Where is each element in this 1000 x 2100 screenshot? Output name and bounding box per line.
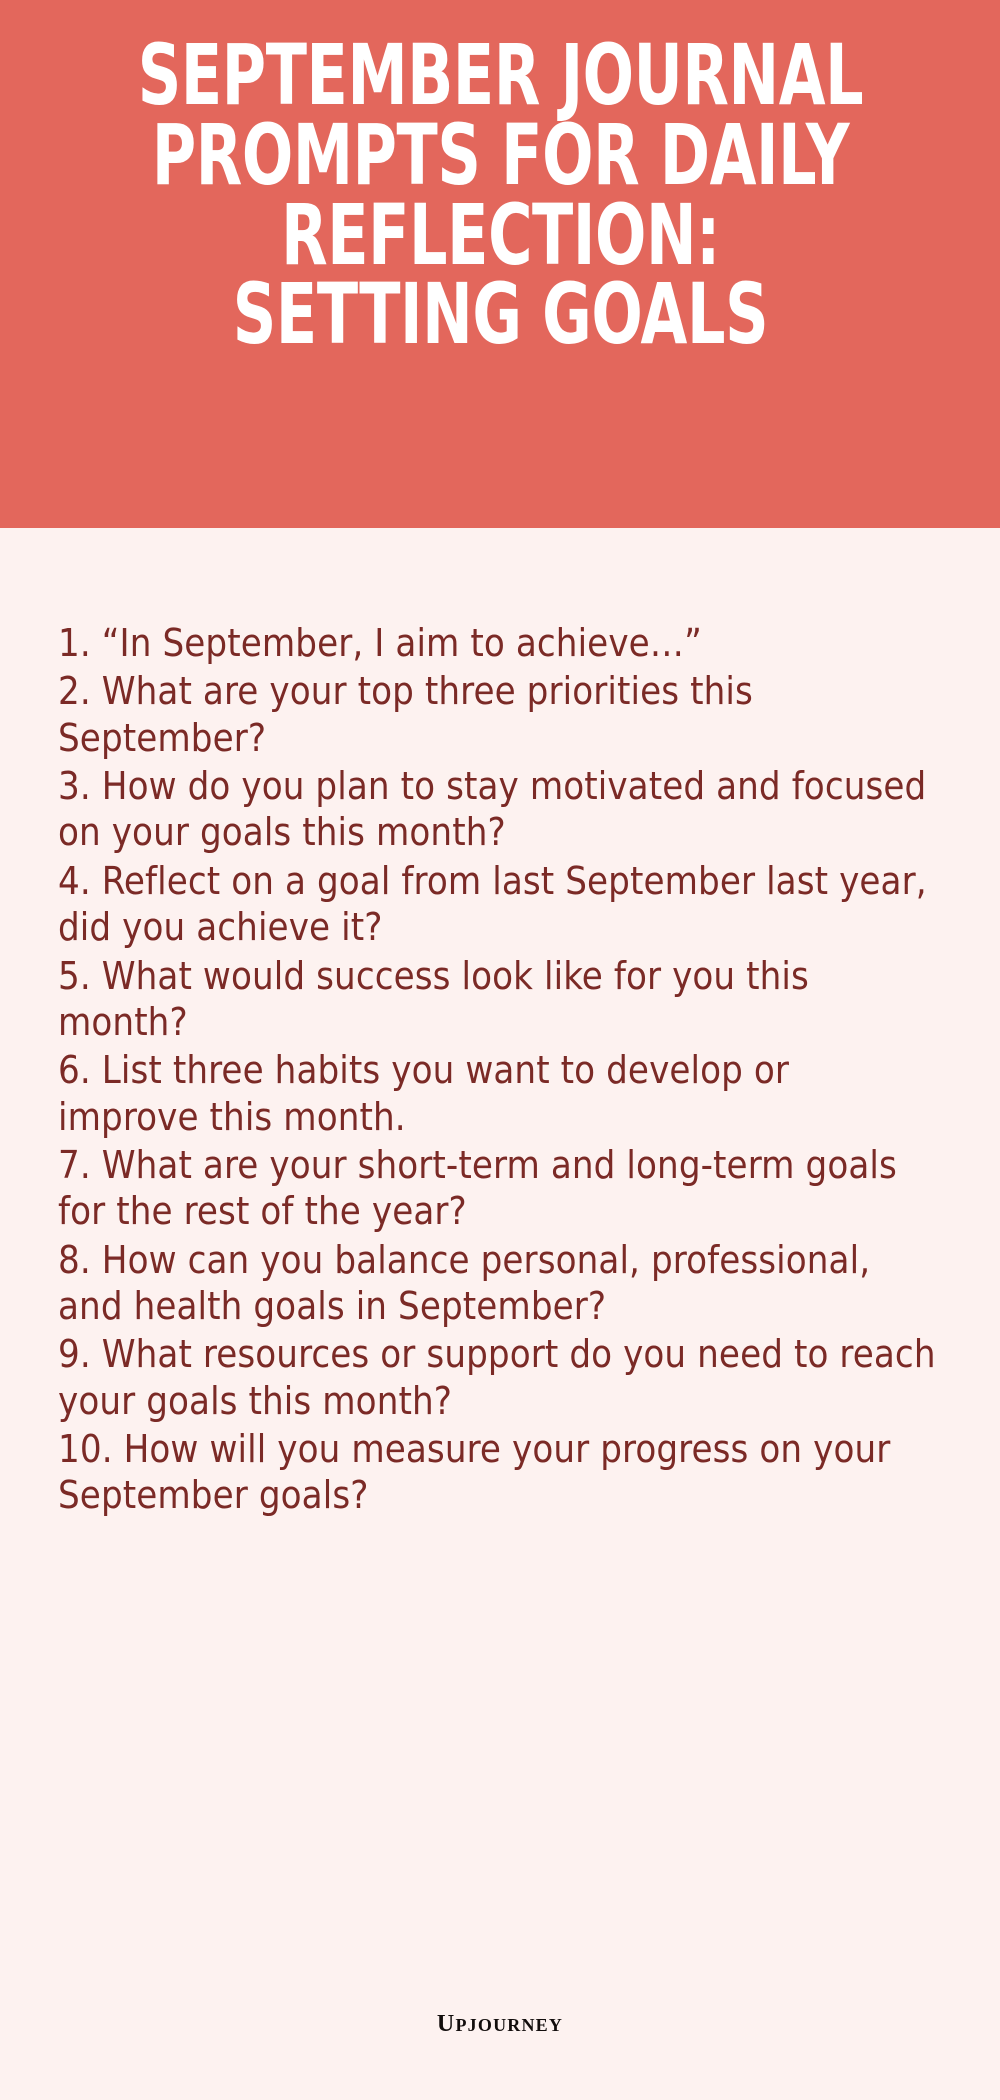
list-item: 2. What are your top three priorities th… <box>58 668 938 761</box>
list-item: 6. List three habits you want to develop… <box>58 1047 938 1140</box>
title-line-3: REFLECTION: <box>70 196 930 276</box>
list-item: 7. What are your short-term and long-ter… <box>58 1142 938 1235</box>
journal-prompt-list: 1. “In September, I aim to achieve…” 2. … <box>58 620 940 1519</box>
title-line-2: PROMPTS FOR DAILY <box>70 116 930 196</box>
list-item: 3. How do you plan to stay motivated and… <box>58 763 938 856</box>
pinterest-infographic: SEPTEMBER JOURNAL PROMPTS FOR DAILY REFL… <box>0 0 1000 2100</box>
list-item: 8. How can you balance personal, profess… <box>58 1237 938 1330</box>
page-title: SEPTEMBER JOURNAL PROMPTS FOR DAILY REFL… <box>70 36 930 355</box>
upjourney-logo: UPJOURNEY <box>437 2002 563 2040</box>
title-line-4: SETTING GOALS <box>70 275 930 355</box>
prompt-content: 1. “In September, I aim to achieve…” 2. … <box>0 528 1000 1980</box>
title-line-1: SEPTEMBER JOURNAL <box>70 36 930 116</box>
list-item: 1. “In September, I aim to achieve…” <box>58 620 938 666</box>
list-item: 9. What resources or support do you need… <box>58 1331 938 1424</box>
header-banner: SEPTEMBER JOURNAL PROMPTS FOR DAILY REFL… <box>0 0 1000 528</box>
footer: UPJOURNEY <box>0 1980 1000 2100</box>
list-item: 5. What would success look like for you … <box>58 953 938 1046</box>
list-item: 4. Reflect on a goal from last September… <box>58 858 938 951</box>
list-item: 10. How will you measure your progress o… <box>58 1426 938 1519</box>
